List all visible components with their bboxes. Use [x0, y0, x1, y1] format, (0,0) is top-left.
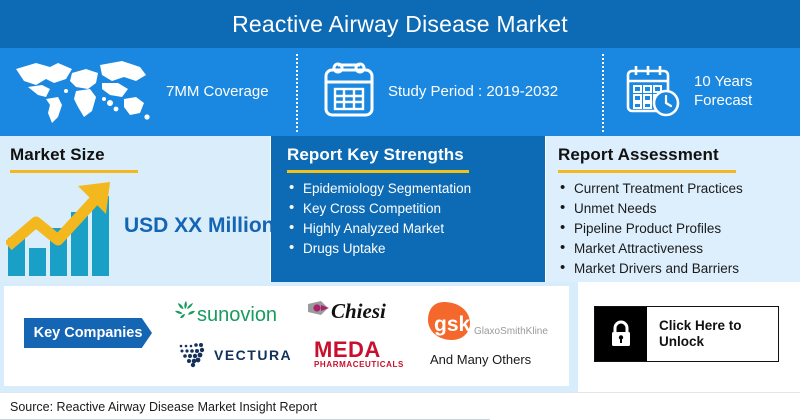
- fact-study-period: Study Period : 2019-2032: [296, 48, 602, 136]
- market-size-panel: Market Size USD XX Million: [0, 136, 270, 282]
- list-item: Current Treatment Practices: [558, 180, 800, 199]
- infographic-root: Reactive Airway Disease Market: [0, 0, 800, 420]
- key-companies-tag: Key Companies: [24, 318, 152, 348]
- svg-text:VECTURA: VECTURA: [214, 347, 292, 363]
- middle-row: Market Size USD XX Million: [0, 136, 800, 282]
- growth-bar-chart-arrow-icon: [6, 178, 124, 278]
- logo-meda: MEDA PHARMACEUTICALS: [312, 338, 416, 377]
- list-item: Key Cross Competition: [287, 200, 545, 219]
- and-many-others-label: And Many Others: [430, 352, 531, 367]
- vectura-dot-mark-icon: [180, 343, 205, 367]
- bottom-row: Key Companies sunovion: [0, 282, 800, 392]
- report-key-strengths-panel: Report Key Strengths Epidemiology Segmen…: [271, 136, 545, 282]
- report-key-strengths-accent-rule: [287, 170, 469, 173]
- svg-text:MEDA: MEDA: [314, 338, 381, 362]
- header-banner: Reactive Airway Disease Market: [0, 0, 800, 48]
- unlock-line-1: Click Here to: [659, 318, 742, 333]
- logo-chiesi: Chiesi: [304, 298, 416, 333]
- logo-sunovion: sunovion: [172, 298, 284, 333]
- calendar-icon: [322, 61, 376, 124]
- list-item: Market Drivers and Barriers: [558, 260, 800, 279]
- logo-vectura: VECTURA: [176, 340, 292, 373]
- list-item: Market Attractiveness: [558, 240, 800, 259]
- sunovion-burst-icon: [175, 301, 195, 318]
- svg-text:GlaxoSmithKline: GlaxoSmithKline: [474, 326, 548, 337]
- report-key-strengths-heading: Report Key Strengths: [287, 145, 545, 165]
- logo-gsk: gsk GlaxoSmithKline: [424, 300, 552, 349]
- calendar-clock-icon: [624, 61, 682, 124]
- svg-text:Chiesi: Chiesi: [331, 299, 386, 323]
- fact-study-period-label: Study Period : 2019-2032: [388, 83, 558, 102]
- report-assessment-panel: Report Assessment Current Treatment Prac…: [546, 136, 800, 282]
- unlock-button[interactable]: Click Here to Unlock: [594, 306, 779, 362]
- list-item: Highly Analyzed Market: [287, 220, 545, 239]
- list-item: Pipeline Product Profiles: [558, 220, 800, 239]
- fact-band: 7MM Coverage: [0, 48, 800, 136]
- list-item: Epidemiology Segmentation: [287, 180, 545, 199]
- report-assessment-heading: Report Assessment: [558, 145, 800, 165]
- report-assessment-list: Current Treatment Practices Unmet Needs …: [558, 180, 800, 279]
- fact-forecast: 10 Years Forecast: [602, 48, 800, 136]
- key-companies-card: Key Companies sunovion: [4, 286, 569, 386]
- unlock-button-label: Click Here to Unlock: [647, 307, 778, 361]
- fact-coverage-label: 7MM Coverage: [166, 83, 269, 102]
- report-assessment-accent-rule: [558, 170, 736, 173]
- source-text: Source: Reactive Airway Disease Market I…: [0, 400, 317, 414]
- list-item: Unmet Needs: [558, 200, 800, 219]
- svg-text:sunovion: sunovion: [197, 304, 277, 326]
- unlock-line-2: Unlock: [659, 334, 704, 349]
- report-key-strengths-list: Epidemiology Segmentation Key Cross Comp…: [287, 180, 545, 259]
- page-title: Reactive Airway Disease Market: [232, 11, 568, 38]
- list-item: Drugs Uptake: [287, 240, 545, 259]
- lock-icon: [595, 307, 647, 361]
- fact-forecast-label: 10 Years Forecast: [694, 73, 800, 111]
- chiesi-mark-icon: [308, 301, 329, 315]
- market-size-accent-rule: [10, 170, 138, 173]
- market-size-amount: USD XX Million: [124, 214, 275, 238]
- svg-text:PHARMACEUTICALS: PHARMACEUTICALS: [314, 360, 404, 369]
- svg-text:gsk: gsk: [434, 313, 471, 336]
- market-size-heading: Market Size: [10, 145, 270, 165]
- footer: Source: Reactive Airway Disease Market I…: [0, 392, 800, 420]
- fact-coverage: 7MM Coverage: [0, 48, 296, 136]
- world-map-icon: [6, 53, 154, 132]
